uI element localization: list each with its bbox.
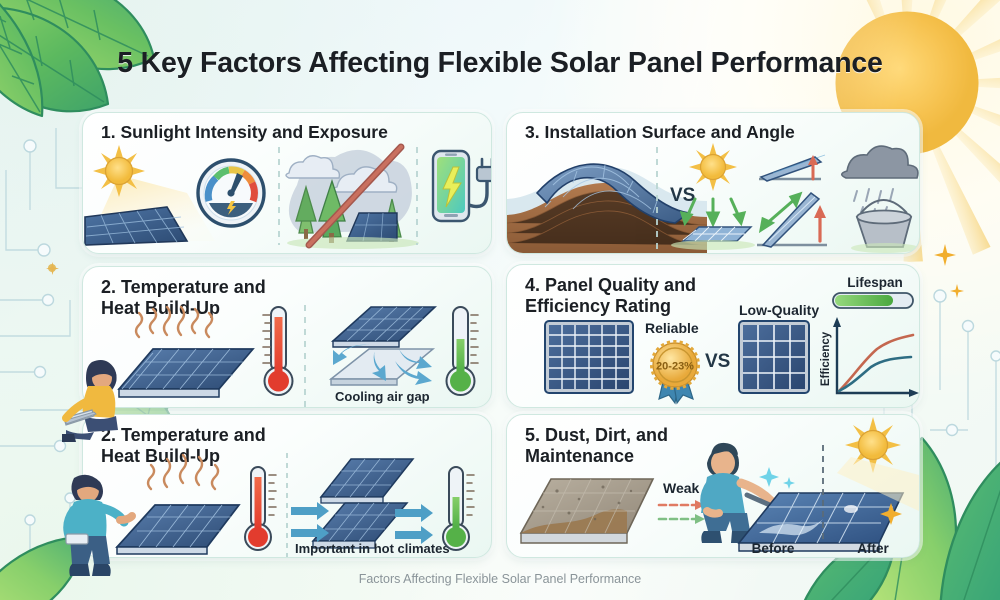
efficiency-badge-value: 20-23% bbox=[656, 361, 694, 373]
important-hot-climates-label: Important in hot climates bbox=[295, 541, 450, 556]
award-badge-icon: 20-23% bbox=[652, 342, 699, 404]
card-3-illustration: VS bbox=[507, 141, 919, 253]
power-plug-icon bbox=[477, 159, 492, 181]
heat-wave-icon bbox=[136, 307, 212, 337]
solar-panel-icon bbox=[117, 505, 239, 554]
sun-icon bbox=[689, 143, 737, 191]
shaded-scene bbox=[286, 147, 419, 249]
rain-cloud-icon bbox=[842, 146, 918, 217]
gauge-icon bbox=[198, 160, 264, 226]
card-5-illustration: Weak bbox=[507, 415, 919, 557]
thermometer-hot-icon bbox=[263, 307, 293, 395]
smartphone-charging-icon bbox=[433, 151, 492, 221]
progress-bar-icon bbox=[833, 293, 913, 308]
high-quality-panel-icon bbox=[545, 321, 633, 393]
cooling-air-gap-label: Cooling air gap bbox=[335, 389, 430, 404]
tilted-panel-icon bbox=[757, 193, 827, 247]
card-dust-dirt-maintenance[interactable]: 5. Dust, Dirt, and Maintenance bbox=[506, 414, 920, 558]
reliable-label: Reliable bbox=[645, 320, 699, 336]
arrow-right-icon bbox=[659, 500, 705, 524]
solar-panel-icon bbox=[333, 307, 435, 347]
tilted-panel-icon bbox=[759, 155, 825, 181]
vs-label: VS bbox=[670, 185, 695, 206]
card-2b-illustration: Important in hot climates bbox=[83, 453, 491, 557]
sparkle-icon bbox=[759, 467, 795, 489]
card-panel-quality[interactable]: 4. Panel Quality and Efficiency Rating bbox=[506, 264, 920, 408]
person-with-laptop bbox=[52, 356, 142, 446]
card-installation-surface[interactable]: 3. Installation Surface and Angle bbox=[506, 112, 920, 254]
infographic-canvas: 5 Key Factors Affecting Flexible Solar P… bbox=[0, 0, 1000, 600]
thermometer-hot-icon bbox=[245, 467, 276, 550]
dirty-panel-icon bbox=[521, 479, 653, 543]
after-label: After bbox=[857, 541, 889, 556]
card-sunlight-intensity[interactable]: 1. Sunlight Intensity and Exposure bbox=[82, 112, 492, 254]
thermometer-cool-icon bbox=[443, 467, 474, 550]
bucket-icon bbox=[851, 200, 919, 253]
series-low-quality bbox=[839, 357, 911, 391]
lifespan-label: Lifespan bbox=[847, 275, 903, 290]
weak-label: Weak bbox=[663, 480, 700, 496]
page-title: 5 Key Factors Affecting Flexible Solar P… bbox=[0, 47, 1000, 80]
line-chart-icon: Efficiency bbox=[820, 317, 919, 397]
up-arrow-icon bbox=[814, 205, 826, 241]
before-label: Before bbox=[752, 541, 795, 556]
person-presenting bbox=[50, 470, 132, 580]
card-title: 1. Sunlight Intensity and Exposure bbox=[101, 123, 388, 143]
solar-panel-icon bbox=[321, 459, 413, 503]
thermometer-cool-icon bbox=[447, 307, 479, 395]
heat-wave-icon bbox=[148, 455, 218, 489]
low-quality-panel-icon bbox=[739, 321, 809, 393]
vs-label: VS bbox=[705, 351, 730, 372]
low-quality-label: Low-Quality bbox=[739, 302, 819, 318]
card-title: 3. Installation Surface and Angle bbox=[525, 123, 795, 143]
card-4-illustration: Reliable 20-23% VS Low-Quality bbox=[507, 265, 919, 407]
card-1-illustration bbox=[83, 141, 491, 253]
footer-caption: Factors Affecting Flexible Solar Panel P… bbox=[0, 572, 1000, 586]
card-temperature-heat-buildup-1[interactable]: 2. Temperature and Heat Build-Up bbox=[82, 266, 492, 408]
efficiency-axis-label: Efficiency bbox=[820, 331, 832, 386]
card-2a-illustration: Cooling air gap bbox=[83, 305, 491, 407]
card-temperature-heat-buildup-2[interactable]: 2. Temperature and Heat Build-Up bbox=[82, 414, 492, 558]
curved-solar-panel-icon bbox=[507, 164, 707, 253]
